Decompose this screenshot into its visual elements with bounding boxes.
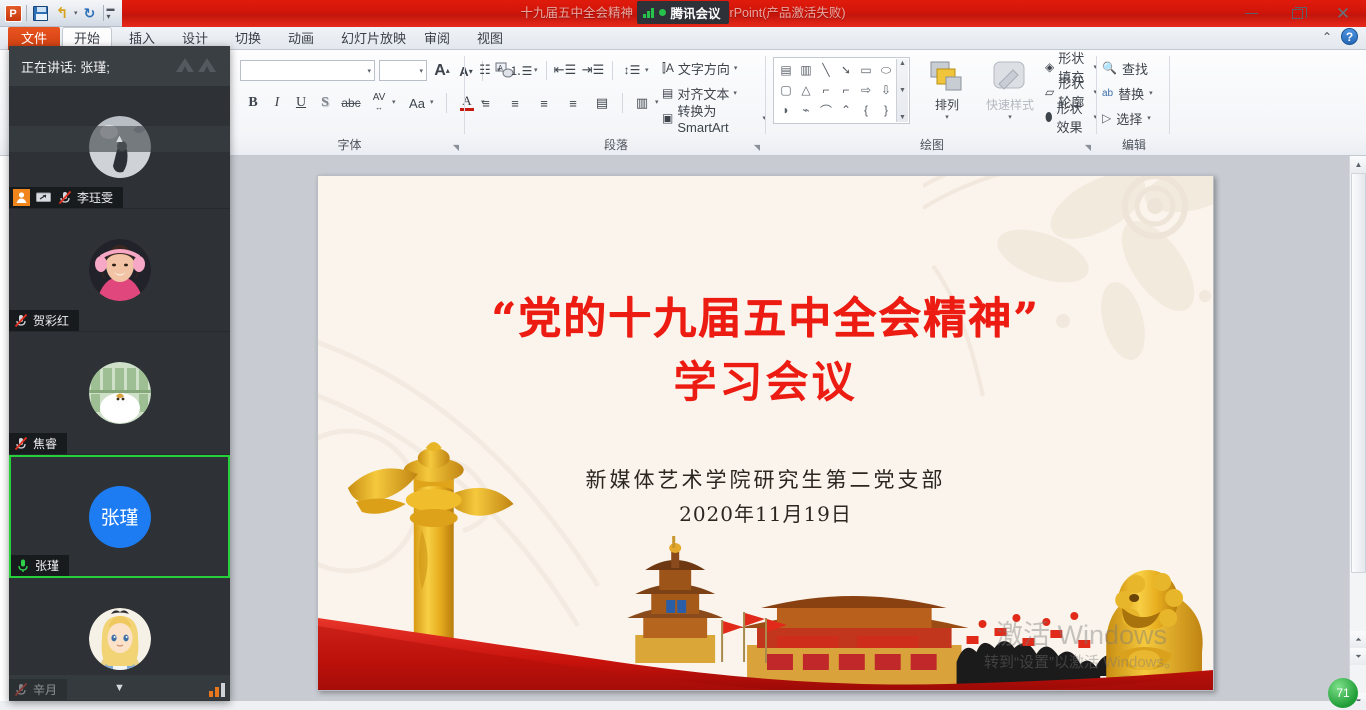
shapes-gallery[interactable]: ▤ ▥ ╲ ➘ ▭ ⬭ ▢ △ ⌐ ⌐ ⇨ ⇩ ◗ ⌁ ⌒ ⌃ { [773, 57, 910, 124]
next-slide-button[interactable]: ⏷ [1350, 648, 1366, 665]
tab-review[interactable]: 审阅 [413, 27, 461, 50]
shape-rounded-rect-icon[interactable]: ▢ [776, 80, 796, 100]
restore-button[interactable] [1274, 0, 1320, 27]
shape-triangle-icon[interactable]: △ [796, 80, 816, 100]
arrange-button[interactable]: 排列 ▾ [919, 58, 975, 121]
save-icon[interactable] [30, 3, 50, 23]
character-spacing-icon[interactable]: AV↔ [366, 90, 392, 114]
ribbon-group-drawing: ▤ ▥ ╲ ➘ ▭ ⬭ ▢ △ ⌐ ⌐ ⇨ ⇩ ◗ ⌁ ⌒ ⌃ { [767, 50, 1097, 156]
shape-freeform-icon[interactable]: ◗ [776, 100, 796, 120]
meeting-panel-header: 正在讲话: 张瑾; [9, 46, 230, 86]
align-left-icon[interactable]: ≡ [474, 92, 498, 114]
shapes-scroll-down-icon[interactable]: ▼ [899, 87, 906, 94]
slide-title-line2: 学习会议 [318, 348, 1213, 410]
ribbon-group-editing: 🔍 查找 ab 替换 ▾ ▷ 选择 ▾ 编辑 [1098, 50, 1170, 156]
signal-bars-icon [643, 7, 654, 18]
temple-of-heaven [627, 536, 723, 663]
shape-textbox-icon[interactable]: ▤ [776, 60, 796, 80]
avatar-initials: 张瑾 [89, 486, 151, 548]
shape-arrow-icon[interactable]: ➘ [836, 60, 856, 80]
font-size-input[interactable]: ▾ [379, 60, 427, 81]
host-icon [13, 189, 30, 206]
mic-muted-icon [13, 436, 28, 452]
scrollbar-slide-nav: ⏶ ⏷ [1350, 631, 1366, 665]
shape-curve-icon[interactable]: ⌃ [836, 100, 856, 120]
participant-name: 李珏雯 [77, 189, 113, 206]
participant-name: 焦睿 [33, 435, 57, 452]
replace-icon: ab [1102, 88, 1113, 99]
line-spacing-icon[interactable]: ↕☰ [620, 60, 644, 80]
para-divider-2 [612, 61, 613, 80]
vertical-scrollbar[interactable]: ▲ ⏶ ⏷ ▼ [1349, 156, 1366, 710]
redo-icon[interactable]: ↻ [80, 3, 100, 23]
change-case-icon[interactable]: Aa [404, 92, 430, 114]
participant-nametag: 李珏雯 [9, 187, 123, 208]
shape-effects-icon: ⬮ [1045, 110, 1053, 125]
character-spacing-dropdown-icon[interactable]: ▾ [392, 98, 396, 106]
tencent-meeting-badge[interactable]: 腾讯会议 [637, 1, 729, 24]
quick-styles-button[interactable]: 快速样式 ▾ [979, 58, 1041, 121]
shapes-grid: ▤ ▥ ╲ ➘ ▭ ⬭ ▢ △ ⌐ ⌐ ⇨ ⇩ ◗ ⌁ ⌒ ⌃ { [774, 58, 909, 122]
participant-name: 贺彩红 [33, 312, 69, 329]
participant-name: 张瑾 [35, 557, 59, 574]
mic-active-icon [15, 558, 30, 574]
columns-dropdown-icon[interactable]: ▾ [655, 98, 659, 106]
grow-font-icon[interactable]: A▴ [431, 60, 453, 81]
bold-icon[interactable]: B [242, 92, 264, 114]
numbering-icon[interactable]: ⒈☰ [510, 60, 532, 80]
qat-divider [26, 5, 27, 21]
qat-divider-2 [103, 5, 104, 21]
tab-animations[interactable]: 动画 [277, 27, 325, 50]
crowd-flags [967, 612, 1119, 648]
text-direction-button[interactable]: ⫿A 文字方向 ▾ [662, 58, 737, 78]
justify-icon[interactable]: ≡ [561, 92, 585, 114]
arrange-icon [925, 58, 969, 96]
taskbar-edge [0, 701, 1366, 710]
text-shadow-icon[interactable]: S [314, 92, 336, 114]
participant-nametag: 贺彩红 [9, 310, 79, 331]
avatar [89, 362, 151, 424]
speaking-status-label: 正在讲话: 张瑾; [21, 57, 110, 76]
mic-muted-icon [57, 190, 72, 206]
arrange-label: 排列 [919, 96, 975, 113]
slide-bottom-artwork [318, 440, 1213, 690]
participant-nametag: 张瑾 [11, 555, 69, 576]
replace-dropdown-icon[interactable]: ▾ [1149, 89, 1153, 97]
replace-button[interactable]: ab 替换 ▾ [1102, 83, 1153, 103]
meeting-badge-label: 腾讯会议 [671, 3, 721, 22]
quick-styles-icon [989, 58, 1031, 96]
underline-icon[interactable]: U [290, 92, 312, 114]
recording-dot-icon [659, 9, 666, 16]
participant-nametag: 焦睿 [9, 433, 67, 454]
para-divider-3 [622, 93, 623, 113]
shape-elbow-connector-icon[interactable]: ⌐ [816, 80, 836, 100]
bullets-dropdown-icon[interactable]: ▾ [497, 66, 501, 74]
align-right-icon[interactable]: ≡ [532, 92, 556, 114]
scroll-thumb[interactable] [1351, 173, 1366, 573]
tab-transitions[interactable]: 切换 [224, 27, 272, 50]
align-text-dropdown-icon[interactable]: ▾ [733, 89, 737, 97]
slide-title-line1: “党的十九届五中全会精神” [318, 284, 1213, 346]
editing-group-label: 编辑 [1098, 136, 1170, 153]
previous-slide-button[interactable]: ⏶ [1350, 631, 1366, 648]
align-center-icon[interactable]: ≡ [503, 92, 527, 114]
font-size-dropdown-icon[interactable]: ▾ [419, 67, 423, 75]
drawing-dialog-launcher-icon[interactable]: ◥ [1085, 143, 1091, 152]
drawing-group-label: 绘图 [767, 136, 1097, 153]
ribbon-right-controls: ⌃ ? [1322, 28, 1358, 45]
arrange-dropdown-icon[interactable]: ▾ [919, 113, 975, 121]
powerpoint-window: 十九届五中全会精神 - Microsoft PowerPoint(产品激活失败)… [0, 0, 1366, 710]
close-button[interactable]: ✕ [1320, 0, 1366, 27]
convert-smartart-button[interactable]: ▣ 转换为 SmartArt ▾ [662, 108, 766, 128]
quick-styles-label: 快速样式 [979, 96, 1041, 113]
smartart-icon: ▣ [662, 111, 673, 125]
scroll-up-button[interactable]: ▲ [1350, 156, 1366, 173]
shape-oval-icon[interactable]: ⬭ [876, 60, 896, 80]
decrease-indent-icon[interactable]: ⇤☰ [554, 60, 576, 80]
shape-down-arrow-icon[interactable]: ⇩ [876, 80, 896, 100]
participant-tile-active-speaker[interactable]: 张瑾 张瑾 [9, 455, 230, 578]
increase-indent-icon[interactable]: ⇥☰ [582, 60, 604, 80]
tab-view[interactable]: 视图 [466, 27, 514, 50]
shape-outline-icon: ▱ [1045, 85, 1054, 99]
distribute-icon[interactable]: ▤ [590, 92, 614, 114]
slide-workspace: “党的十九届五中全会精神” 学习会议 新媒体艺术学院研究生第二党支部 2020年… [230, 156, 1366, 710]
paragraph-dialog-launcher-icon[interactable]: ◥ [754, 143, 760, 152]
strikethrough-icon[interactable]: abc [338, 92, 364, 114]
collapse-ribbon-icon[interactable]: ⌃ [1322, 30, 1332, 44]
shapes-more-icon[interactable]: ▼ [899, 114, 906, 121]
tencent-meeting-panel: 正在讲话: 张瑾; [9, 46, 230, 701]
tiananmen-gate [721, 596, 968, 690]
slide-canvas[interactable]: “党的十九届五中全会精神” 学习会议 新媒体艺术学院研究生第二党支部 2020年… [317, 175, 1214, 691]
shape-arc-icon[interactable]: ⌒ [816, 100, 836, 120]
align-text-icon: ▤ [662, 86, 673, 100]
avatar [89, 608, 151, 670]
font-dialog-launcher-icon[interactable]: ◥ [453, 143, 459, 152]
font-name-input[interactable]: ▾ [240, 60, 375, 81]
columns-icon[interactable]: ▥ [630, 92, 654, 114]
help-icon[interactable]: ? [1341, 28, 1358, 45]
paragraph-group-label: 段落 [466, 136, 766, 153]
line-spacing-dropdown-icon[interactable]: ▾ [645, 66, 649, 74]
align-text-button[interactable]: ▤ 对齐文本 ▾ [662, 83, 737, 103]
guardian-lion [1106, 570, 1202, 690]
huabiao-column [348, 442, 514, 658]
font-group-label: 字体 [234, 136, 465, 153]
shape-right-brace-icon[interactable]: } [876, 100, 896, 120]
shape-fill-icon: ◈ [1045, 60, 1054, 74]
shape-effects-button[interactable]: ⬮ 形状效果 ▾ [1045, 107, 1097, 127]
shape-left-brace-icon[interactable]: { [856, 100, 876, 120]
ribbon-group-paragraph: ☷ ▾ ⒈☰ ▾ ⇤☰ ⇥☰ ↕☰ ▾ ⫿A 文字方向 ▾ ▤ 对齐文本 ▾ ▣… [466, 50, 766, 156]
participant-scroll-down-button[interactable]: ▼ [9, 675, 230, 701]
binoculars-icon: 🔍 [1102, 61, 1117, 75]
change-case-dropdown-icon[interactable]: ▾ [430, 98, 434, 106]
customize-qat-icon[interactable]: ▬▾ [107, 5, 115, 21]
mic-muted-icon [13, 313, 28, 329]
screen-share-icon [35, 190, 52, 205]
numbering-dropdown-icon[interactable]: ▾ [534, 66, 538, 74]
powerpoint-app-icon[interactable]: P [3, 3, 23, 23]
avatar [89, 239, 151, 301]
shape-vertical-textbox-icon[interactable]: ▥ [796, 60, 816, 80]
quick-styles-dropdown-icon[interactable]: ▾ [979, 113, 1041, 121]
shape-elbow-arrow-icon[interactable]: ⌐ [836, 80, 856, 100]
select-dropdown-icon[interactable]: ▾ [1147, 114, 1151, 122]
shapes-gallery-scroll[interactable]: ▲ ▼ ▼ [896, 59, 908, 122]
battery-indicator[interactable]: 71 [1328, 678, 1358, 708]
text-direction-dropdown-icon[interactable]: ▾ [734, 64, 738, 72]
ribbon-group-font: ▾ ▾ A▴ A▾ A B I U S abc AV↔ ▾ Aa [234, 50, 465, 156]
bullets-icon[interactable]: ☷ [474, 60, 496, 80]
shape-right-arrow-icon[interactable]: ⇨ [856, 80, 876, 100]
cursor-icon: ▷ [1102, 111, 1111, 125]
find-button[interactable]: 🔍 查找 [1102, 58, 1148, 78]
network-quality-icon[interactable] [209, 683, 225, 697]
select-button[interactable]: ▷ 选择 ▾ [1102, 108, 1151, 128]
text-direction-icon: ⫿A [662, 61, 674, 76]
minimize-button[interactable] [1228, 0, 1274, 27]
tencent-meeting-logo-icon [174, 54, 220, 78]
tab-slideshow[interactable]: 幻灯片放映 [330, 27, 417, 50]
undo-dropdown-icon[interactable]: ▾ [74, 9, 78, 17]
shape-scribble-icon[interactable]: ⌁ [796, 100, 816, 120]
participant-list[interactable]: 李珏雯 [9, 86, 230, 701]
participant-tile[interactable]: 贺彩红 [9, 209, 230, 332]
shape-rectangle-icon[interactable]: ▭ [856, 60, 876, 80]
window-controls: ✕ [1228, 0, 1366, 27]
participant-scroll-up-button[interactable]: ▲ [9, 126, 230, 152]
italic-icon[interactable]: I [266, 92, 288, 114]
shape-line-icon[interactable]: ╲ [816, 60, 836, 80]
font-divider-2 [446, 93, 447, 113]
participant-tile[interactable]: 焦睿 [9, 332, 230, 455]
font-name-dropdown-icon[interactable]: ▾ [367, 67, 371, 75]
undo-icon[interactable]: ↰ [52, 3, 72, 23]
shapes-scroll-up-icon[interactable]: ▲ [899, 60, 906, 67]
quick-access-toolbar: P ↰ ▾ ↻ ▬▾ [0, 0, 122, 27]
para-divider [546, 61, 547, 80]
